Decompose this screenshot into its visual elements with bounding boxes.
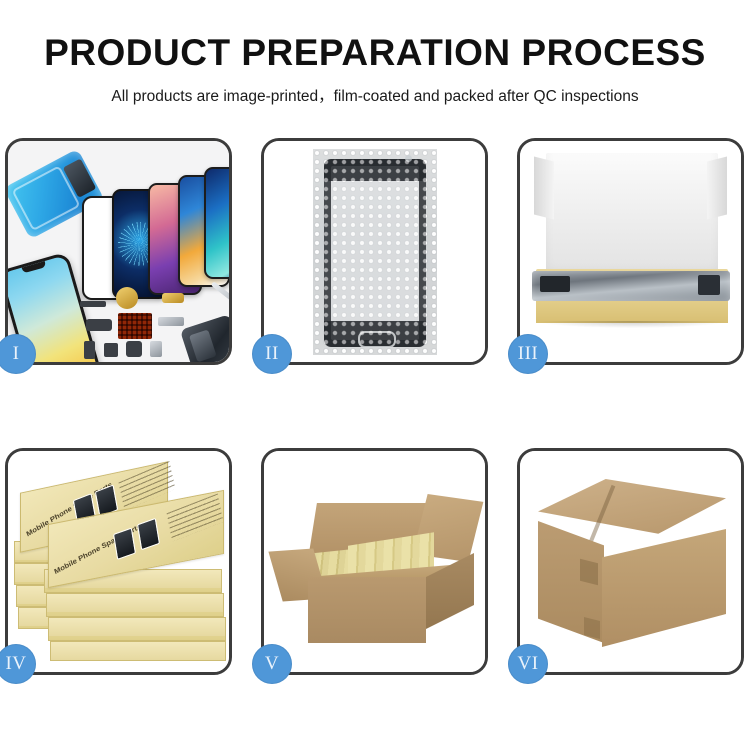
process-step-2: II — [261, 138, 488, 365]
process-step-grid: I II — [5, 138, 745, 678]
wrapped-phone-in-box — [532, 271, 730, 301]
bubble-wrap-sheet — [313, 149, 437, 355]
part-bracket-icon — [162, 293, 184, 303]
stacked-box — [50, 641, 226, 661]
badge-step-3: III — [508, 334, 548, 374]
process-step-4: Mobile Phone Spare Parts Mobile Phone Sp… — [5, 448, 232, 675]
step-3-image — [520, 141, 741, 362]
process-step-6: VI — [517, 448, 744, 675]
part-shield-icon — [158, 317, 184, 326]
step-6-image — [520, 451, 741, 672]
phone-bottom-block — [698, 275, 720, 295]
camera-hole-icon — [405, 155, 412, 162]
open-shipping-carton — [278, 491, 474, 643]
stacked-box — [48, 617, 226, 641]
phone-top-block — [540, 276, 570, 292]
step-4-image: Mobile Phone Spare Parts Mobile Phone Sp… — [8, 451, 229, 672]
box-lid-flap-right — [707, 157, 727, 220]
box-thumbnail-2 — [137, 518, 160, 550]
part-flex-strip-icon — [80, 301, 106, 307]
process-step-5: V — [261, 448, 488, 675]
carton-front-face — [308, 577, 426, 643]
part-sensor-icon — [150, 341, 162, 357]
badge-step-4: IV — [0, 644, 36, 684]
part-speaker-icon — [116, 287, 138, 309]
carton-tab-upper — [580, 559, 598, 585]
phone-backplate-icon — [180, 314, 229, 362]
box-lid-icon — [546, 153, 718, 277]
badge-step-6: VI — [508, 644, 548, 684]
home-button-icon — [358, 331, 396, 348]
box-thumbnail-1 — [113, 528, 136, 560]
carton-tab-lower — [584, 617, 600, 639]
carton-shadow — [560, 671, 728, 672]
carton-right-face — [602, 529, 726, 647]
part-simtray-icon — [84, 341, 95, 359]
phone-glass-icon — [324, 159, 426, 347]
page-title: PRODUCT PREPARATION PROCESS — [0, 32, 750, 74]
box-spec-lines — [167, 493, 224, 541]
part-camera-icon — [86, 319, 112, 331]
page-subtitle: All products are image-printed，film-coat… — [0, 84, 750, 106]
product-preparation-infographic: PRODUCT PREPARATION PROCESS All products… — [0, 0, 750, 750]
step-2-image — [264, 141, 485, 362]
badge-step-5: V — [252, 644, 292, 684]
stacked-box — [46, 593, 224, 617]
box-lid-flap-left — [534, 157, 554, 220]
step-1-image — [8, 141, 229, 362]
part-connector-grid-icon — [118, 313, 152, 339]
glass-top-bezel — [324, 159, 426, 181]
step-5-image — [264, 451, 485, 672]
phone-teal-icon — [204, 167, 229, 279]
box-shadow — [538, 321, 726, 328]
box-stack: Mobile Phone Spare Parts Mobile Phone Sp… — [14, 473, 224, 658]
tweezers-icon — [211, 281, 229, 310]
film-chip-icon — [63, 158, 97, 197]
spare-parts-group — [80, 287, 229, 362]
process-step-1: I — [5, 138, 232, 365]
glass-bottom-bezel — [324, 321, 426, 347]
sealed-shipping-carton — [538, 479, 726, 647]
part-vibrator-icon — [126, 341, 142, 357]
badge-step-1: I — [0, 334, 36, 374]
part-button-icon — [104, 343, 118, 357]
badge-step-2: II — [252, 334, 292, 374]
process-step-3: III — [517, 138, 744, 365]
